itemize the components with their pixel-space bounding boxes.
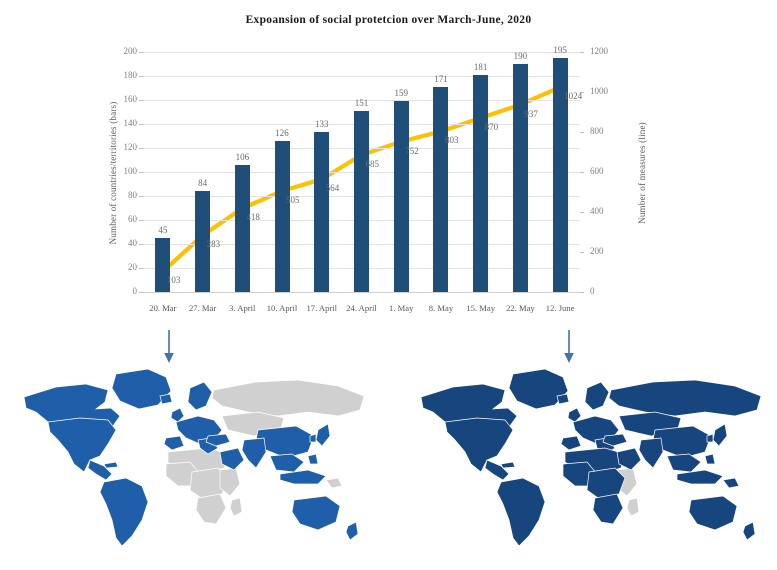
y-axis-left-tick-mark <box>139 292 143 293</box>
bar <box>314 132 329 292</box>
map-region-iberia <box>164 436 184 450</box>
map-region-s-america <box>100 478 148 546</box>
map-region-cuba <box>501 462 515 468</box>
map-region-madagascar <box>230 498 242 516</box>
bar-value-label: 133 <box>305 120 339 129</box>
y-axis-right-tick-mark <box>580 132 584 133</box>
y-axis-right-tick: 600 <box>590 167 624 176</box>
y-axis-left-tick-mark <box>139 76 143 77</box>
map-region-india <box>639 438 663 468</box>
y-axis-left-tick-mark <box>139 196 143 197</box>
map-region-indonesia <box>280 470 326 484</box>
map-region-scand <box>188 382 212 410</box>
map-region-s-africa <box>593 494 623 524</box>
y-axis-right-tick-mark <box>580 172 584 173</box>
y-axis-left-tick: 0 <box>107 287 137 296</box>
y-axis-right-tick: 400 <box>590 207 624 216</box>
map-region-nz <box>346 522 358 540</box>
map-region-png <box>326 478 342 488</box>
line-value-label: 283 <box>207 240 241 249</box>
map-region-iceland <box>160 394 172 404</box>
bar-value-label: 151 <box>345 99 379 108</box>
plot-area: 0204060801001201401601802000200400600800… <box>143 52 580 292</box>
line-value-label: 103 <box>167 276 201 285</box>
y-axis-left-tick: 160 <box>107 95 137 104</box>
bar <box>433 87 448 292</box>
map-region-uk-ire <box>568 408 581 422</box>
map-region-russia <box>609 380 761 416</box>
y-axis-left-tick-mark <box>139 148 143 149</box>
bar-value-label: 171 <box>424 75 458 84</box>
y-axis-left-tick: 200 <box>107 47 137 56</box>
y-axis-left-tick-mark <box>139 244 143 245</box>
bar-value-label: 45 <box>146 226 180 235</box>
bar <box>513 64 528 292</box>
map-region-indonesia <box>677 470 723 484</box>
map-covered-regions <box>421 369 761 546</box>
bar-value-label: 159 <box>384 89 418 98</box>
y-axis-left-tick: 120 <box>107 143 137 152</box>
y-axis-left-tick-mark <box>139 220 143 221</box>
y-axis-right-tick: 800 <box>590 127 624 136</box>
y-axis-left-tick: 40 <box>107 239 137 248</box>
y-axis-right-tick: 1200 <box>590 47 624 56</box>
map-region-cuba <box>104 462 118 468</box>
map-region-uk-ire <box>171 408 184 422</box>
y-axis-right-tick-mark <box>580 252 584 253</box>
bar <box>473 75 488 292</box>
y-axis-left-tick: 180 <box>107 71 137 80</box>
map-region-india <box>242 438 266 468</box>
bar-value-label: 190 <box>503 52 537 61</box>
gridline <box>143 292 580 293</box>
map-region-japan <box>316 424 330 446</box>
map-region-australia <box>292 496 340 530</box>
map-region-sea <box>270 454 304 472</box>
line-value-label: 803 <box>445 136 479 145</box>
bar <box>235 165 250 292</box>
line-value-label: 418 <box>246 213 280 222</box>
figure-root: Expoansion of social protetcion over Mar… <box>0 0 777 570</box>
line-value-label: 505 <box>286 196 320 205</box>
y-axis-right-tick-mark <box>580 52 584 53</box>
y-axis-left-tick: 20 <box>107 263 137 272</box>
bar-value-label: 126 <box>265 129 299 138</box>
line-value-label: 752 <box>405 147 439 156</box>
map-region-s-africa <box>196 494 226 524</box>
y-axis-left-tick: 60 <box>107 215 137 224</box>
y-axis-right-tick-mark <box>580 292 584 293</box>
page-title: Expoansion of social protetcion over Mar… <box>0 14 777 26</box>
arrow-to-june-map <box>560 330 578 364</box>
map-region-sea <box>667 454 701 472</box>
y-axis-right-tick: 0 <box>590 287 624 296</box>
bar <box>394 101 409 292</box>
map-region-japan <box>713 424 727 446</box>
map-region-philippines <box>705 454 715 464</box>
bar-value-label: 106 <box>225 153 259 162</box>
bar <box>354 111 369 292</box>
map-region-scand <box>585 382 609 410</box>
map-region-nz <box>743 522 755 540</box>
y-axis-left-tick: 80 <box>107 191 137 200</box>
map-region-madagascar <box>627 498 639 516</box>
world-map-march <box>8 360 388 565</box>
y-axis-left-tick-mark <box>139 268 143 269</box>
y-axis-right-title: Number of measures (line) <box>637 58 647 288</box>
map-region-australia <box>689 496 737 530</box>
arrow-to-march-map <box>160 330 178 364</box>
world-map-march-svg <box>8 360 388 565</box>
y-axis-left-tick-mark <box>139 172 143 173</box>
bar-value-label: 84 <box>186 179 220 188</box>
map-region-s-america <box>497 478 545 546</box>
line-value-label: 564 <box>326 184 360 193</box>
y-axis-left-tick-mark <box>139 124 143 125</box>
line-value-label: 685 <box>366 160 400 169</box>
y-axis-left-tick-mark <box>139 52 143 53</box>
y-axis-left-tick: 140 <box>107 119 137 128</box>
map-region-russia <box>212 380 364 416</box>
bar-value-label: 195 <box>543 46 577 55</box>
map-region-philippines <box>308 454 318 464</box>
map-region-c-africa <box>587 468 625 500</box>
line-value-label: 937 <box>524 110 558 119</box>
line-value-label: 870 <box>485 123 519 132</box>
y-axis-left-tick-mark <box>139 100 143 101</box>
combo-chart: Number of countries/territories (bars) N… <box>95 45 685 335</box>
y-axis-right-tick-mark <box>580 212 584 213</box>
line-value-label: 1024 <box>564 92 598 101</box>
y-axis-left-tick: 100 <box>107 167 137 176</box>
y-axis-right-tick: 200 <box>590 247 624 256</box>
map-region-iceland <box>557 394 569 404</box>
world-map-june-svg <box>405 360 773 565</box>
world-map-june <box>405 360 773 565</box>
map-region-iberia <box>561 436 581 450</box>
x-axis-tick-label: 12. June <box>534 304 586 313</box>
bar-value-label: 181 <box>464 63 498 72</box>
map-region-png <box>723 478 739 488</box>
